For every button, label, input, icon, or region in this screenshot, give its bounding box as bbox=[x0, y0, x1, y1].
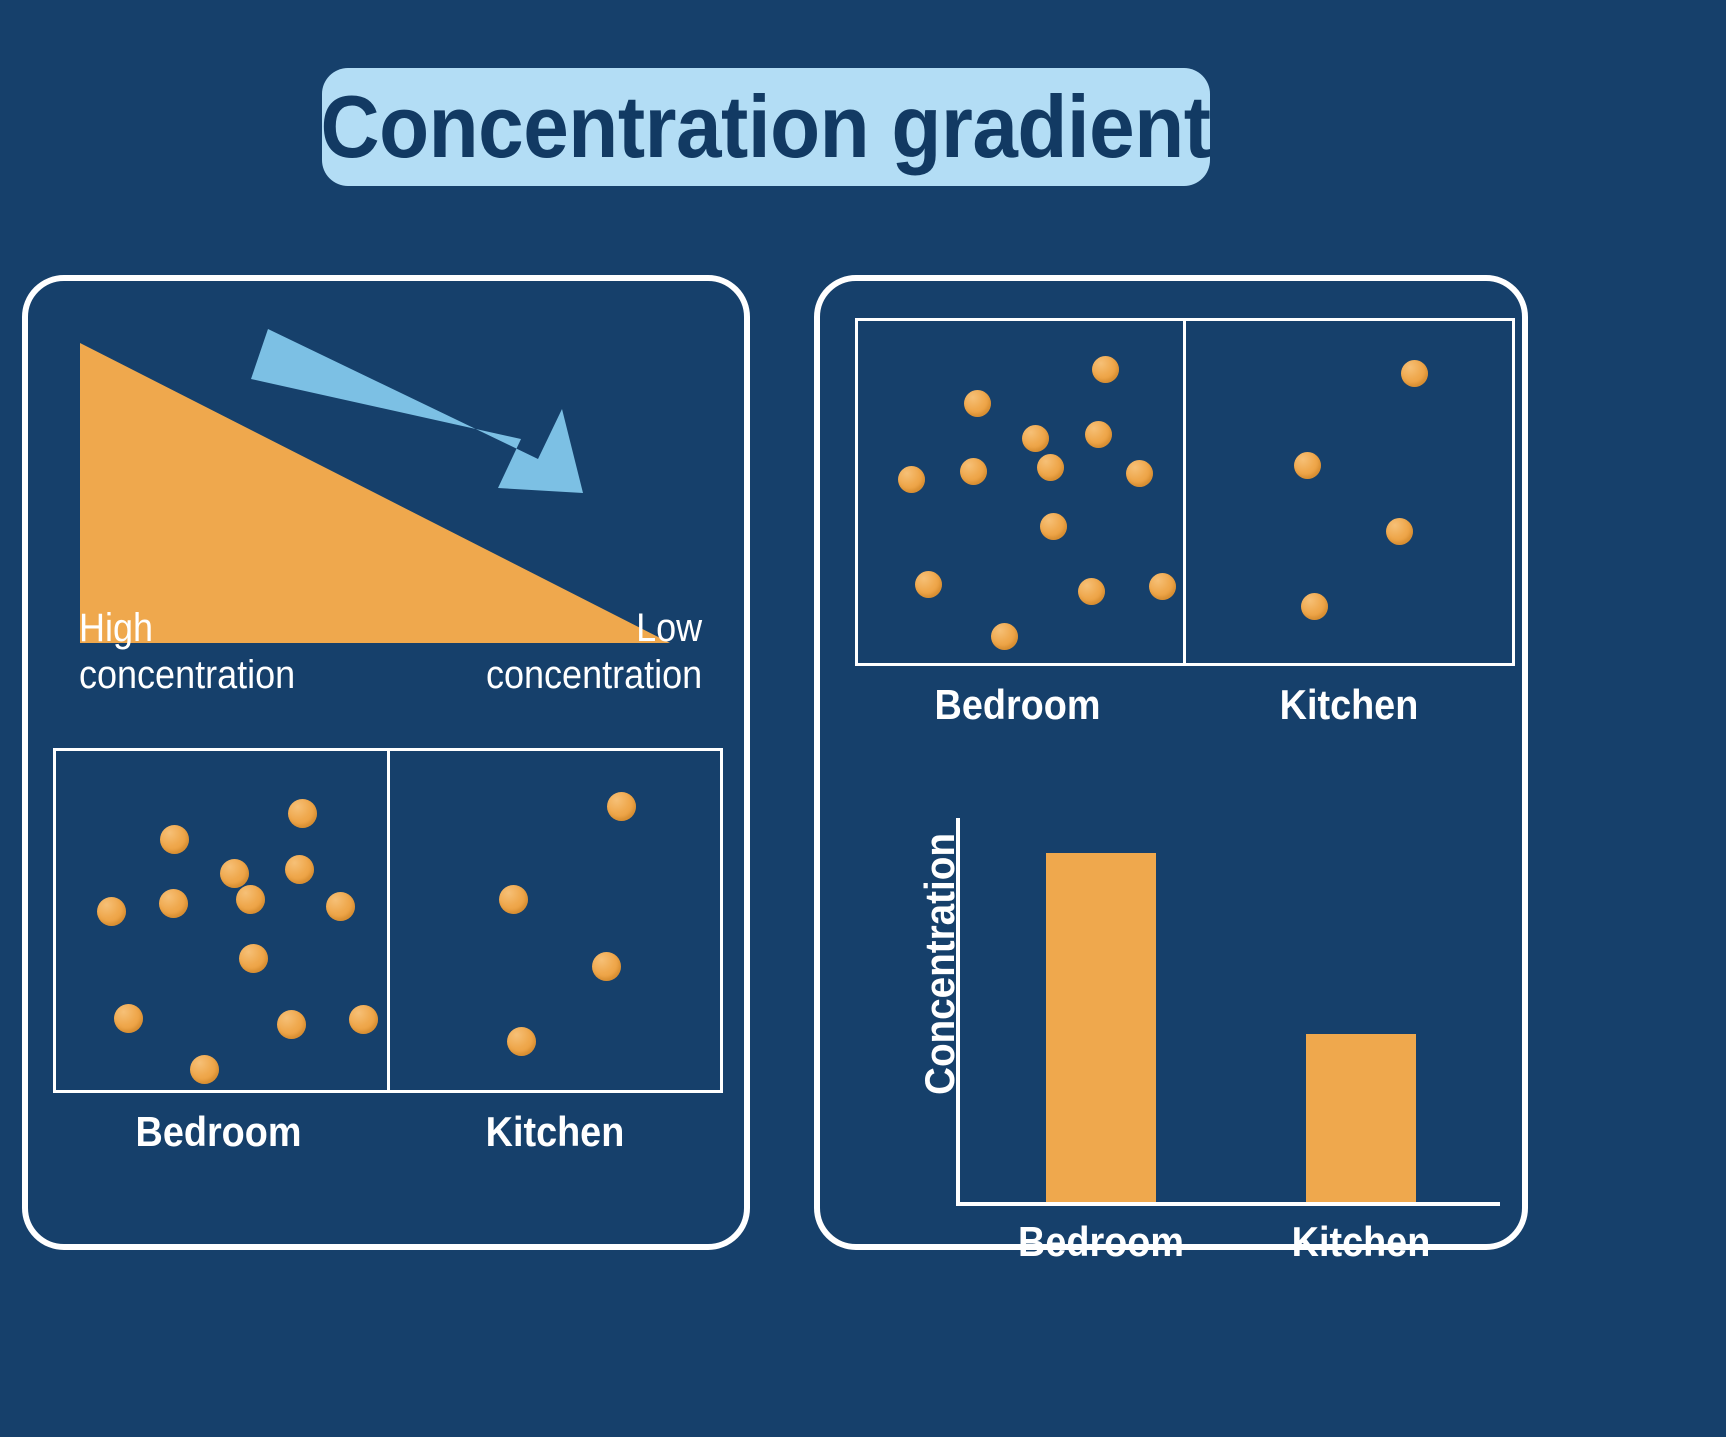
chart-x-axis-line bbox=[956, 1202, 1500, 1206]
molecule-dot bbox=[1040, 513, 1067, 540]
page-title: Concentration gradient bbox=[321, 83, 1211, 171]
molecule-dot bbox=[288, 799, 317, 828]
molecule-dot bbox=[607, 792, 636, 821]
molecule-dot bbox=[220, 859, 249, 888]
molecule-dot bbox=[960, 458, 987, 485]
molecule-dot bbox=[159, 889, 188, 918]
high-concentration-line1: High bbox=[79, 605, 295, 652]
molecule-dot bbox=[97, 897, 126, 926]
room-divider bbox=[387, 751, 390, 1090]
molecule-dot bbox=[1149, 573, 1176, 600]
molecule-dot bbox=[1301, 593, 1328, 620]
molecule-dot bbox=[1294, 452, 1321, 479]
chart-tick-kitchen: Kitchen bbox=[1262, 1218, 1460, 1266]
molecule-dot bbox=[1401, 360, 1428, 387]
molecule-dot bbox=[349, 1005, 378, 1034]
molecule-dot bbox=[239, 944, 268, 973]
left-kitchen-caption: Kitchen bbox=[404, 1108, 706, 1156]
molecule-dot bbox=[236, 885, 265, 914]
chart-bar-kitchen bbox=[1306, 1034, 1416, 1202]
molecule-dot bbox=[1078, 578, 1105, 605]
left-bedroom-caption: Bedroom bbox=[70, 1108, 368, 1156]
chart-y-axis-line bbox=[956, 818, 960, 1206]
molecule-dot bbox=[1386, 518, 1413, 545]
molecule-dot bbox=[915, 571, 942, 598]
molecule-dot bbox=[592, 952, 621, 981]
molecule-dot bbox=[991, 623, 1018, 650]
low-concentration-line2: concentration bbox=[486, 652, 702, 699]
molecule-dot bbox=[326, 892, 355, 921]
molecule-dot bbox=[277, 1010, 306, 1039]
molecule-dot bbox=[285, 855, 314, 884]
molecule-dot bbox=[964, 390, 991, 417]
molecule-dot bbox=[1037, 454, 1064, 481]
high-concentration-line2: concentration bbox=[79, 652, 295, 699]
concentration-bar-chart: Concentration BedroomKitchen bbox=[900, 800, 1500, 1220]
title-banner: Concentration gradient bbox=[322, 68, 1210, 186]
molecule-dot bbox=[1022, 425, 1049, 452]
chart-tick-bedroom: Bedroom bbox=[1002, 1218, 1200, 1266]
high-concentration-label: High concentration bbox=[79, 605, 295, 699]
molecule-dot bbox=[507, 1027, 536, 1056]
low-concentration-line1: Low bbox=[486, 605, 702, 652]
right-rooms-box bbox=[855, 318, 1515, 666]
molecule-dot bbox=[1126, 460, 1153, 487]
chart-bar-bedroom bbox=[1046, 853, 1156, 1202]
right-bedroom-caption: Bedroom bbox=[871, 681, 1164, 729]
molecule-dot bbox=[898, 466, 925, 493]
right-kitchen-caption: Kitchen bbox=[1200, 681, 1499, 729]
diagram-canvas: Concentration gradient High concentratio… bbox=[0, 0, 1726, 1437]
molecule-dot bbox=[1092, 356, 1119, 383]
molecule-dot bbox=[114, 1004, 143, 1033]
molecule-dot bbox=[190, 1055, 219, 1084]
left-rooms-box bbox=[53, 748, 723, 1093]
molecule-dot bbox=[1085, 421, 1112, 448]
low-concentration-label: Low concentration bbox=[486, 605, 702, 699]
room-divider bbox=[1183, 321, 1186, 663]
molecule-dot bbox=[160, 825, 189, 854]
molecule-dot bbox=[499, 885, 528, 914]
